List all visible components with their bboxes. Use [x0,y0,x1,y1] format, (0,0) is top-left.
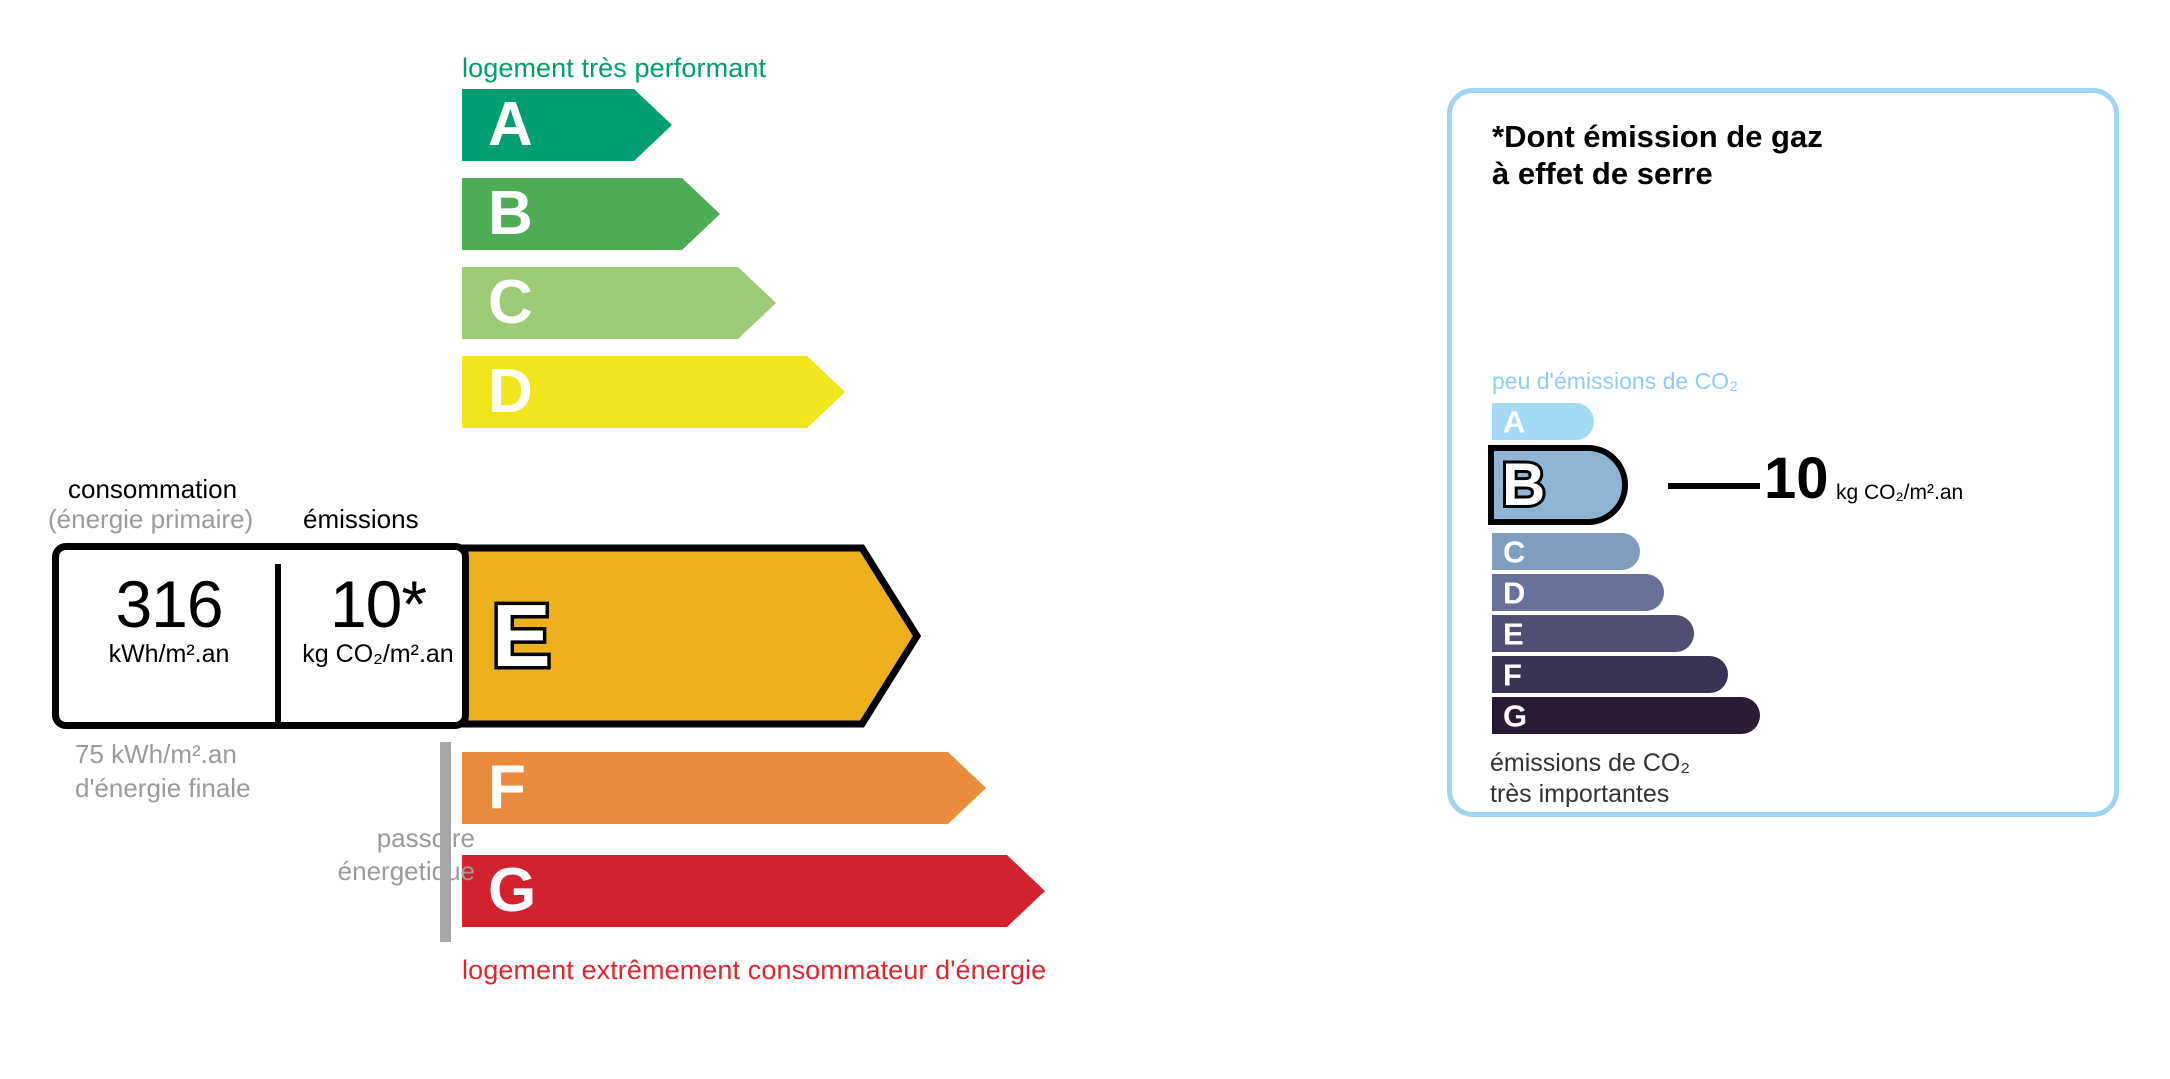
energy-bar-c-letter: C [488,272,533,334]
energy-bar-f-letter: F [488,757,526,819]
co2-bar-f[interactable]: F [1492,656,1728,693]
label-emissions: émissions [303,504,419,535]
energy-bar-e-current[interactable]: E [462,545,922,727]
co2-emissions-panel: *Dont émission de gaz à effet de serre p… [1447,88,2119,817]
co2-bar-g-letter: G [1503,700,1527,731]
co2-bar-d[interactable]: D [1492,574,1664,611]
label-consommation: consommation [68,474,237,505]
emission-cell: 10* kg CO₂/m².an [287,570,469,669]
label-consommation-sub: (énergie primaire) [48,504,253,535]
energy-bottom-caption: logement extrêmement consommateur d'éner… [462,955,1046,986]
co2-bar-e-letter: E [1503,618,1524,649]
co2-bar-b-letter: B [1502,455,1545,515]
energy-bar-g-letter: G [488,860,536,922]
co2-value: 10 [1764,450,1829,508]
energy-bar-d[interactable]: D [462,356,845,428]
passoire-indicator-bar [440,742,451,942]
energy-performance-scale: logement très performant A B C D E [0,0,1400,1079]
co2-value-unit: kg CO₂/m².an [1836,481,1963,505]
consumption-value-box: 316 kWh/m².an 10* kg CO₂/m².an [52,543,469,729]
energy-bar-c[interactable]: C [462,267,776,339]
co2-bar-d-letter: D [1503,577,1525,608]
energy-top-caption: logement très performant [462,53,766,84]
co2-bar-c[interactable]: C [1492,533,1640,570]
co2-bar-a[interactable]: A [1492,403,1594,440]
energy-bar-d-letter: D [488,361,533,423]
co2-leader-line [1668,483,1760,489]
energy-bar-f[interactable]: F [462,752,986,824]
energy-bar-a[interactable]: A [462,89,672,161]
label-final-energy: 75 kWh/m².an d'énergie finale [75,738,251,806]
consumption-value: 316 [65,570,273,639]
energy-bar-b-letter: B [488,183,533,245]
value-box-divider [275,564,281,722]
co2-bar-c-letter: C [1503,536,1525,567]
co2-bar-g[interactable]: G [1492,697,1760,734]
energy-bar-a-letter: A [488,94,533,156]
co2-bar-f-letter: F [1503,659,1522,690]
co2-top-caption: peu d'émissions de CO₂ [1492,368,1738,395]
energy-bar-g[interactable]: G [462,855,1045,927]
co2-bar-e[interactable]: E [1492,615,1694,652]
co2-panel-title: *Dont émission de gaz à effet de serre [1492,118,1823,192]
energy-bar-b[interactable]: B [462,178,720,250]
co2-bar-a-letter: A [1503,406,1525,437]
energy-bar-e-letter: E [492,592,551,680]
emission-value: 10* [287,570,469,639]
emission-unit: kg CO₂/m².an [287,641,469,669]
co2-bottom-caption: émissions de CO₂ très importantes [1490,748,1690,811]
consumption-cell: 316 kWh/m².an [65,570,273,669]
consumption-unit: kWh/m².an [65,641,273,669]
